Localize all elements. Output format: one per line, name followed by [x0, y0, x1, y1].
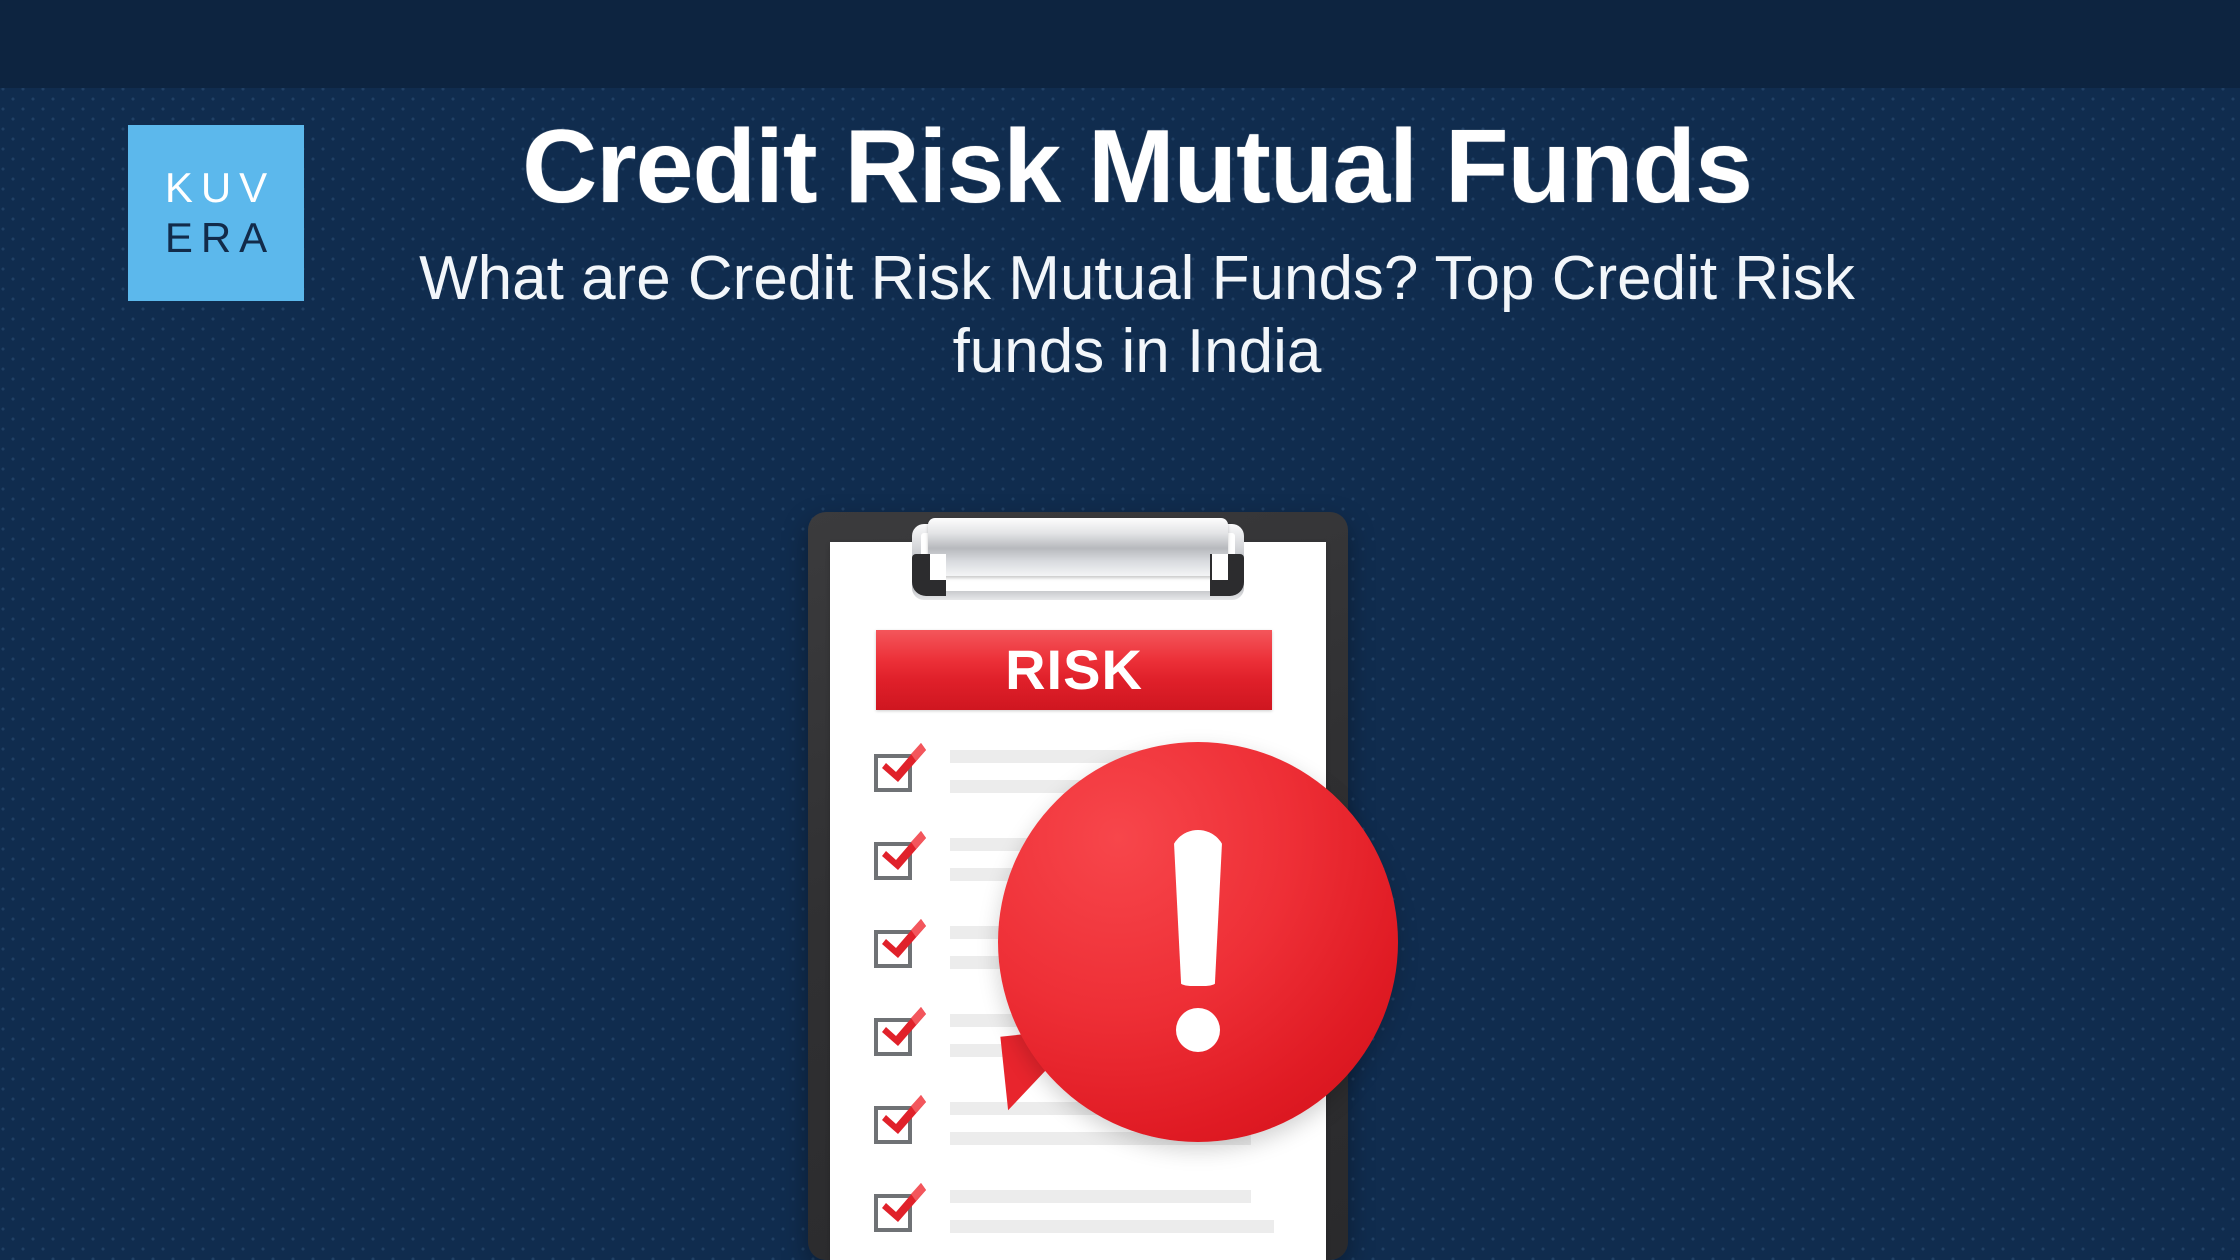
background-top-band [0, 0, 2240, 88]
promo-banner: KUV ERA Credit Risk Mutual Funds What ar… [0, 0, 2240, 1260]
logo-bottom-text: ERA [157, 213, 275, 263]
check-icon [880, 826, 928, 874]
kuvera-logo[interactable]: KUV ERA [128, 125, 304, 301]
exclamation-dot-icon [1176, 1008, 1220, 1052]
risk-banner-label: RISK [1005, 642, 1143, 698]
clipboard-clip-corner-mask-right [1212, 554, 1228, 580]
text-line [950, 1220, 1274, 1233]
alert-speech-bubble [998, 742, 1398, 1142]
text-line [950, 1190, 1251, 1203]
check-icon [880, 1002, 928, 1050]
page-subtitle: What are Credit Risk Mutual Funds? Top C… [402, 242, 1872, 388]
clipboard-clip-metal [928, 518, 1228, 576]
check-icon [880, 1178, 928, 1226]
logo-top-text: KUV [157, 163, 275, 213]
check-icon [880, 738, 928, 786]
check-icon [880, 914, 928, 962]
risk-banner: RISK [876, 630, 1272, 710]
text-lines [950, 1190, 1274, 1250]
page-title: Credit Risk Mutual Funds [390, 112, 1884, 222]
list-item[interactable] [874, 1184, 1274, 1260]
check-icon [880, 1090, 928, 1138]
headline-block: Credit Risk Mutual Funds What are Credit… [390, 112, 1884, 389]
risk-clipboard-illustration: RISK [808, 512, 1368, 1260]
clipboard-clip-corner-mask-left [930, 554, 946, 580]
